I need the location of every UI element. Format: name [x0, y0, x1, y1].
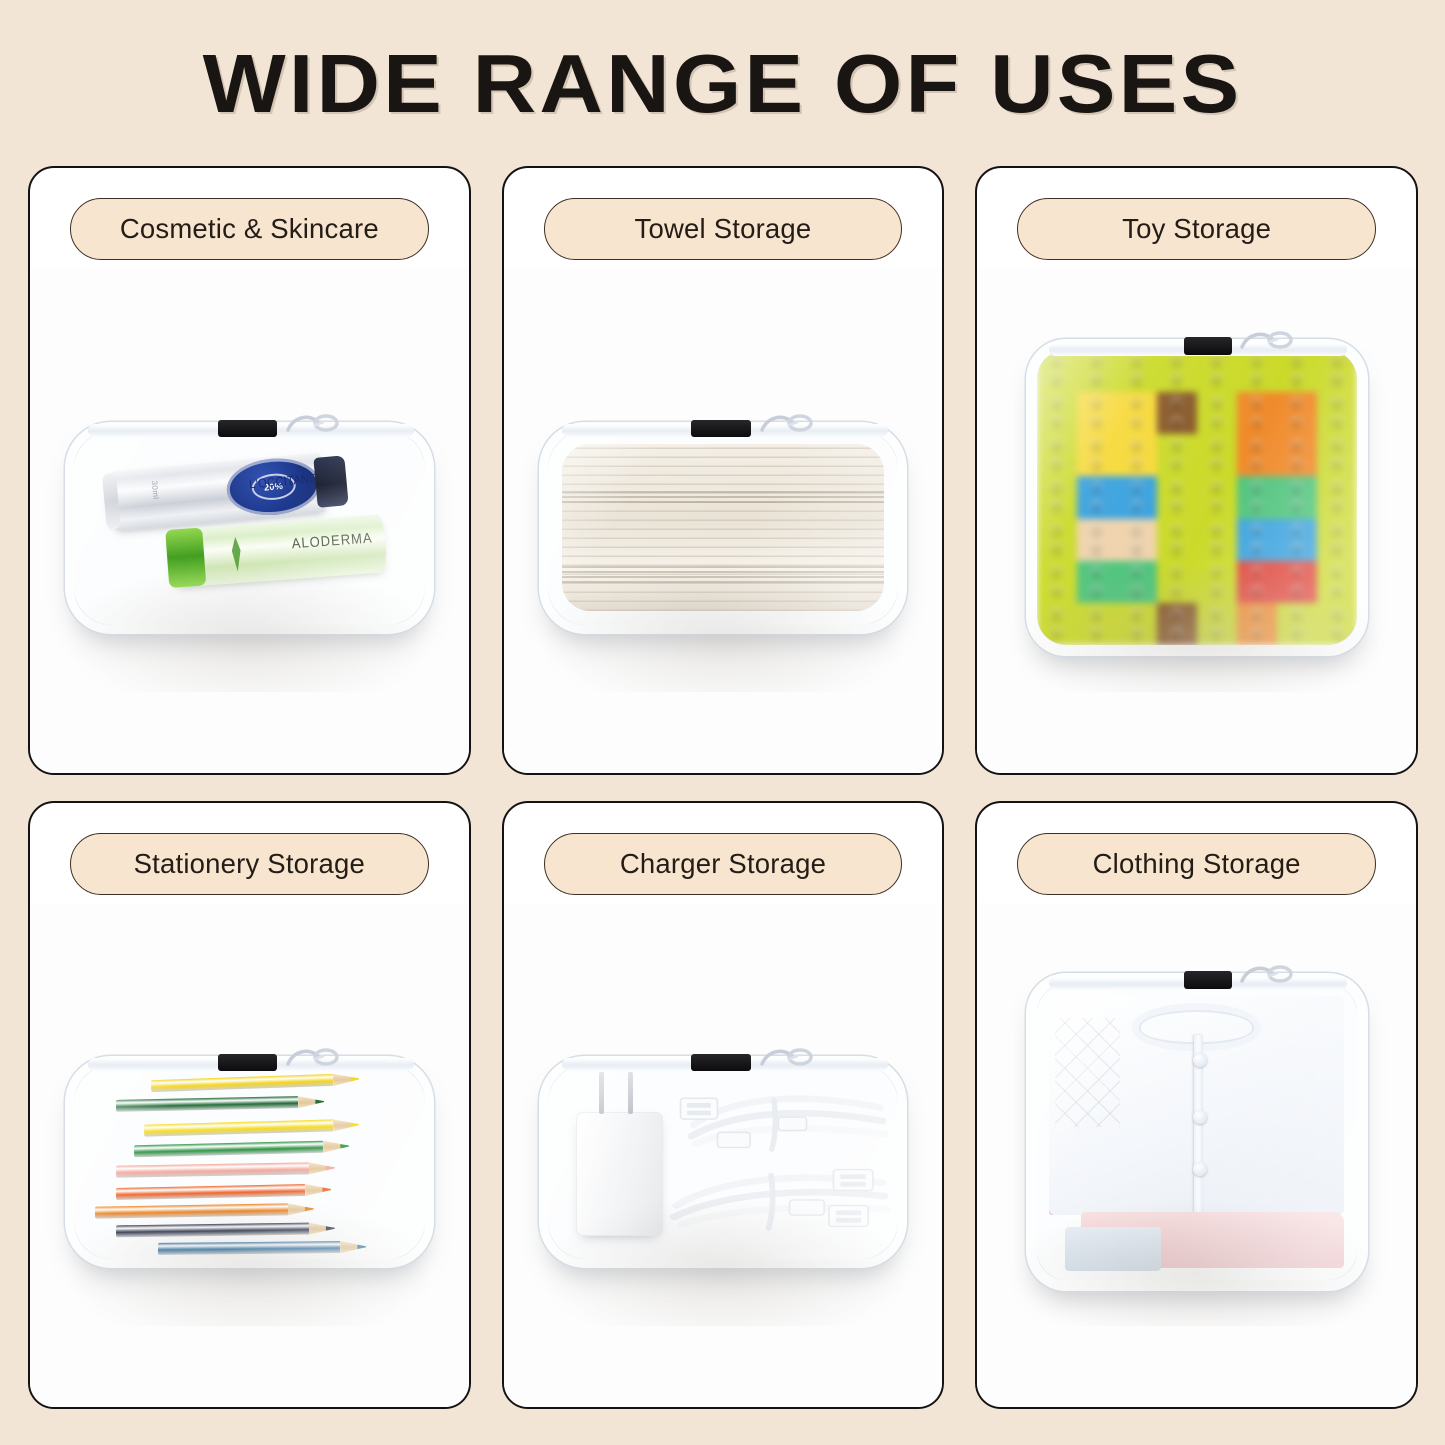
- building-brick: [1157, 350, 1197, 392]
- brick-stud: [1330, 458, 1344, 472]
- brick-stud: [1170, 500, 1184, 514]
- brick-stud: [1210, 566, 1224, 580]
- brick-stud: [1330, 500, 1344, 514]
- brick-stud: [1050, 439, 1064, 453]
- zipper-label-tab: [691, 1054, 751, 1071]
- building-brick: [1157, 603, 1197, 645]
- building-brick: [1277, 561, 1317, 603]
- building-brick: [1077, 392, 1117, 434]
- leaf-icon: [224, 536, 248, 572]
- building-brick: [1077, 603, 1117, 645]
- brick-stud: [1050, 627, 1064, 641]
- brick-stud: [1170, 566, 1184, 580]
- building-brick: [1037, 476, 1077, 518]
- tube-net-weight: 30ml: [149, 480, 160, 500]
- building-brick: [1277, 434, 1317, 476]
- brick-stud: [1210, 373, 1224, 387]
- zipper-pull-icon: [1238, 329, 1292, 359]
- building-brick: [1117, 603, 1157, 645]
- building-brick: [1037, 434, 1077, 476]
- brick-stud: [1130, 542, 1144, 556]
- card-label-chip: Cosmetic & Skincare: [70, 198, 429, 260]
- building-brick: [1277, 476, 1317, 518]
- brick-stud: [1090, 439, 1104, 453]
- pencil-barrel: [116, 1184, 305, 1200]
- colored-pencil: [116, 1163, 309, 1178]
- brick-stud: [1250, 585, 1264, 599]
- brick-stud: [1130, 524, 1144, 538]
- brick-stud: [1170, 397, 1184, 411]
- product-photo-charger: [504, 903, 943, 1408]
- building-brick: [1157, 434, 1197, 476]
- building-brick: [1237, 434, 1277, 476]
- brick-stud: [1290, 542, 1304, 556]
- zipper-label-tab: [218, 420, 278, 437]
- brick-stud: [1330, 542, 1344, 556]
- brick-stud: [1330, 608, 1344, 622]
- pouch-interior: [548, 431, 898, 625]
- brick-stud: [1250, 458, 1264, 472]
- brick-stud: [1210, 500, 1224, 514]
- card-label-chip: Toy Storage: [1017, 198, 1376, 260]
- brick-stud: [1130, 608, 1144, 622]
- building-brick: [1037, 350, 1077, 392]
- building-brick: [1237, 519, 1277, 561]
- clear-pouch: [1026, 339, 1368, 657]
- pouch-interior: 30ml 20% L'OCCITANE ALODERMA: [74, 431, 424, 625]
- brick-stud: [1210, 481, 1224, 495]
- pencil-barrel: [158, 1241, 340, 1255]
- building-brick: [1317, 350, 1357, 392]
- colored-pencil: [144, 1119, 334, 1136]
- zipper-pull-icon: [284, 1046, 338, 1076]
- building-brick: [1197, 561, 1237, 603]
- brick-stud: [1130, 397, 1144, 411]
- card-label-chip: Charger Storage: [544, 833, 903, 895]
- use-case-card-clothing-storage[interactable]: Clothing Storage: [975, 801, 1418, 1410]
- brick-stud: [1250, 416, 1264, 430]
- building-brick: [1237, 561, 1277, 603]
- brick-stud: [1210, 524, 1224, 538]
- zipper-pull-icon: [1238, 963, 1292, 993]
- brick-stud: [1130, 585, 1144, 599]
- white-shirt: [1049, 996, 1344, 1215]
- brick-stud: [1050, 397, 1064, 411]
- building-brick: [1037, 603, 1077, 645]
- brick-stud: [1050, 608, 1064, 622]
- building-brick: [1317, 519, 1357, 561]
- brick-stud: [1050, 542, 1064, 556]
- colored-pencil: [158, 1241, 340, 1255]
- card-label-text: Stationery Storage: [134, 848, 365, 880]
- card-label-text: Charger Storage: [620, 848, 826, 880]
- brick-stud: [1330, 481, 1344, 495]
- pouch-interior: [1037, 984, 1357, 1280]
- pencil-barrel: [116, 1223, 309, 1238]
- brick-stud: [1250, 397, 1264, 411]
- product-photo-stationery: [30, 903, 469, 1408]
- brick-stud: [1290, 397, 1304, 411]
- tube-brand-text: ALODERMA: [291, 529, 373, 551]
- clear-pouch: [65, 1056, 433, 1268]
- building-brick: [1317, 476, 1357, 518]
- brick-stud: [1290, 627, 1304, 641]
- usb-cable-bundle-upper: [674, 1085, 891, 1170]
- brick-stud: [1290, 416, 1304, 430]
- product-photo-toys: [977, 268, 1416, 773]
- brick-stud: [1170, 373, 1184, 387]
- brick-stud: [1210, 542, 1224, 556]
- building-brick: [1197, 603, 1237, 645]
- brick-stud: [1330, 416, 1344, 430]
- brick-stud: [1290, 585, 1304, 599]
- brick-stud: [1250, 481, 1264, 495]
- tube-cap: [313, 455, 348, 508]
- pouch-interior: [74, 1065, 424, 1259]
- brick-stud: [1330, 566, 1344, 580]
- building-brick: [1277, 603, 1317, 645]
- brick-stud: [1050, 481, 1064, 495]
- building-brick: [1197, 392, 1237, 434]
- brick-stud: [1290, 500, 1304, 514]
- brick-stud: [1130, 355, 1144, 369]
- brick-stud: [1290, 439, 1304, 453]
- zipper-pull-icon: [284, 412, 338, 442]
- colored-pencil: [116, 1096, 298, 1112]
- building-brick: [1077, 350, 1117, 392]
- colored-pencil: [116, 1223, 309, 1238]
- building-brick: [1317, 561, 1357, 603]
- brick-stud: [1050, 416, 1064, 430]
- brick-stud: [1250, 373, 1264, 387]
- brick-stud: [1210, 397, 1224, 411]
- product-photo-towel: [504, 268, 943, 773]
- building-brick: [1077, 561, 1117, 603]
- shirt-button: [1193, 1110, 1207, 1124]
- brick-stud: [1130, 439, 1144, 453]
- brick-stud: [1090, 458, 1104, 472]
- charger-prong: [628, 1072, 633, 1114]
- use-case-grid: Cosmetic & Skincare 30ml: [28, 166, 1418, 1409]
- colored-pencil: [95, 1203, 288, 1218]
- clear-pouch: 30ml 20% L'OCCITANE ALODERMA: [65, 422, 433, 634]
- brick-stud: [1290, 608, 1304, 622]
- brick-stud: [1250, 439, 1264, 453]
- card-label-text: Clothing Storage: [1093, 848, 1301, 880]
- building-brick: [1077, 519, 1117, 561]
- clear-pouch: [1026, 973, 1368, 1291]
- pencil-barrel: [116, 1096, 298, 1112]
- building-brick: [1077, 434, 1117, 476]
- brick-stud: [1050, 373, 1064, 387]
- wall-charger-adapter: [576, 1112, 664, 1236]
- brick-stud: [1090, 585, 1104, 599]
- colored-pencils: [74, 1065, 424, 1259]
- brick-stud: [1170, 608, 1184, 622]
- brick-stud: [1210, 355, 1224, 369]
- brick-stud: [1330, 373, 1344, 387]
- brick-stud: [1090, 500, 1104, 514]
- brick-stud: [1210, 627, 1224, 641]
- skincare-tube: ALODERMA: [167, 514, 388, 588]
- zipper-pull-icon: [758, 412, 812, 442]
- brick-stud: [1050, 500, 1064, 514]
- brick-stud: [1250, 524, 1264, 538]
- brick-stud: [1250, 627, 1264, 641]
- pencil-barrel: [95, 1203, 288, 1218]
- product-photo-cosmetic: 30ml 20% L'OCCITANE ALODERMA: [30, 268, 469, 773]
- light-blue-garment: [1065, 1227, 1161, 1271]
- pencil-barrel: [134, 1141, 323, 1158]
- building-brick: [1237, 476, 1277, 518]
- brick-stud: [1130, 566, 1144, 580]
- shirt-button: [1193, 1053, 1207, 1067]
- brick-stud: [1250, 542, 1264, 556]
- brick-stud: [1170, 439, 1184, 453]
- brick-stud: [1290, 481, 1304, 495]
- zipper-label-tab: [1184, 337, 1232, 355]
- charger-prong: [599, 1072, 604, 1114]
- brick-stud: [1330, 355, 1344, 369]
- pencil-barrel: [116, 1163, 309, 1178]
- infographic-page: WIDE RANGE OF USES Cosmetic & Skincare: [0, 0, 1445, 1445]
- building-brick: [1237, 603, 1277, 645]
- zipper-pull-icon: [758, 1046, 812, 1076]
- building-brick: [1197, 434, 1237, 476]
- brick-stud: [1170, 458, 1184, 472]
- colored-pencil: [151, 1074, 334, 1092]
- zipper-label-tab: [1184, 971, 1232, 989]
- use-case-card-towel-storage[interactable]: Towel Storage: [502, 166, 945, 775]
- pouch-interior: [548, 1065, 898, 1259]
- brick-stud: [1170, 542, 1184, 556]
- brick-stud: [1250, 500, 1264, 514]
- brick-stud: [1090, 542, 1104, 556]
- brick-stud: [1050, 355, 1064, 369]
- brick-stud: [1290, 566, 1304, 580]
- use-case-card-charger-storage[interactable]: Charger Storage: [502, 801, 945, 1410]
- brick-stud: [1050, 566, 1064, 580]
- colored-pencil: [134, 1141, 323, 1158]
- brick-stud: [1170, 481, 1184, 495]
- brick-stud: [1090, 608, 1104, 622]
- brick-stud: [1330, 627, 1344, 641]
- brick-stud: [1210, 439, 1224, 453]
- brick-stud: [1330, 439, 1344, 453]
- card-label-chip: Towel Storage: [544, 198, 903, 260]
- building-brick: [1117, 519, 1157, 561]
- brick-stud: [1130, 481, 1144, 495]
- brick-stud: [1130, 627, 1144, 641]
- product-photo-clothing: [977, 903, 1416, 1408]
- pencil-barrel: [151, 1074, 334, 1092]
- building-bricks: [1037, 350, 1357, 646]
- brick-stud: [1170, 416, 1184, 430]
- brick-stud: [1210, 416, 1224, 430]
- building-brick: [1317, 434, 1357, 476]
- card-label-text: Cosmetic & Skincare: [120, 213, 379, 245]
- brick-stud: [1250, 608, 1264, 622]
- shirt-button: [1193, 1162, 1207, 1176]
- building-brick: [1157, 561, 1197, 603]
- brick-stud: [1130, 373, 1144, 387]
- use-case-card-cosmetic-skincare[interactable]: Cosmetic & Skincare 30ml: [28, 166, 471, 775]
- clear-pouch: [539, 1056, 907, 1268]
- building-brick: [1117, 561, 1157, 603]
- brick-stud: [1050, 524, 1064, 538]
- brick-stud: [1050, 458, 1064, 472]
- brick-stud: [1250, 566, 1264, 580]
- brick-stud: [1090, 524, 1104, 538]
- brick-stud: [1090, 397, 1104, 411]
- card-label-text: Towel Storage: [635, 213, 812, 245]
- brick-stud: [1090, 481, 1104, 495]
- building-brick: [1037, 519, 1077, 561]
- brick-stud: [1210, 458, 1224, 472]
- brick-stud: [1210, 608, 1224, 622]
- usb-cable-bundle-lower: [660, 1162, 891, 1247]
- building-brick: [1157, 476, 1197, 518]
- building-brick: [1277, 519, 1317, 561]
- brick-stud: [1050, 585, 1064, 599]
- tube-cap-green: [165, 527, 206, 588]
- brick-stud: [1290, 373, 1304, 387]
- brick-stud: [1210, 585, 1224, 599]
- building-brick: [1117, 392, 1157, 434]
- brick-stud: [1290, 524, 1304, 538]
- building-brick: [1117, 350, 1157, 392]
- clear-pouch: [539, 422, 907, 634]
- brick-stud: [1090, 373, 1104, 387]
- brick-stud: [1130, 458, 1144, 472]
- card-label-chip: Stationery Storage: [70, 833, 429, 895]
- zipper-label-tab: [691, 420, 751, 437]
- building-brick: [1077, 476, 1117, 518]
- brick-stud: [1170, 585, 1184, 599]
- building-brick: [1117, 434, 1157, 476]
- brick-stud: [1130, 500, 1144, 514]
- building-brick: [1037, 392, 1077, 434]
- colored-pencil: [116, 1184, 305, 1200]
- use-case-card-toy-storage[interactable]: Toy Storage: [975, 166, 1418, 775]
- building-brick: [1317, 392, 1357, 434]
- brick-stud: [1090, 566, 1104, 580]
- building-brick: [1277, 392, 1317, 434]
- page-title: WIDE RANGE OF USES: [0, 36, 1445, 132]
- building-brick: [1157, 392, 1197, 434]
- brick-stud: [1090, 416, 1104, 430]
- pencil-barrel: [144, 1119, 334, 1136]
- brick-stud: [1290, 458, 1304, 472]
- building-brick: [1117, 476, 1157, 518]
- building-brick: [1197, 350, 1237, 392]
- brick-stud: [1170, 355, 1184, 369]
- brick-stud: [1330, 397, 1344, 411]
- use-case-card-stationery-storage[interactable]: Stationery Storage: [28, 801, 471, 1410]
- card-label-text: Toy Storage: [1122, 213, 1271, 245]
- brick-stud: [1330, 585, 1344, 599]
- brick-stud: [1330, 524, 1344, 538]
- building-brick: [1197, 476, 1237, 518]
- building-brick: [1197, 519, 1237, 561]
- brick-stud: [1090, 355, 1104, 369]
- building-brick: [1237, 392, 1277, 434]
- brick-stud: [1130, 416, 1144, 430]
- card-label-chip: Clothing Storage: [1017, 833, 1376, 895]
- brick-stud: [1170, 524, 1184, 538]
- pouch-interior: [1037, 350, 1357, 646]
- building-brick: [1317, 603, 1357, 645]
- zipper-label-tab: [218, 1054, 278, 1071]
- brick-stud: [1090, 627, 1104, 641]
- building-brick: [1157, 519, 1197, 561]
- folded-towel: [562, 444, 884, 611]
- brick-blur-layer: [1037, 350, 1357, 646]
- shirt-sleeve-texture: [1055, 1018, 1120, 1127]
- brick-stud: [1170, 627, 1184, 641]
- building-brick: [1037, 561, 1077, 603]
